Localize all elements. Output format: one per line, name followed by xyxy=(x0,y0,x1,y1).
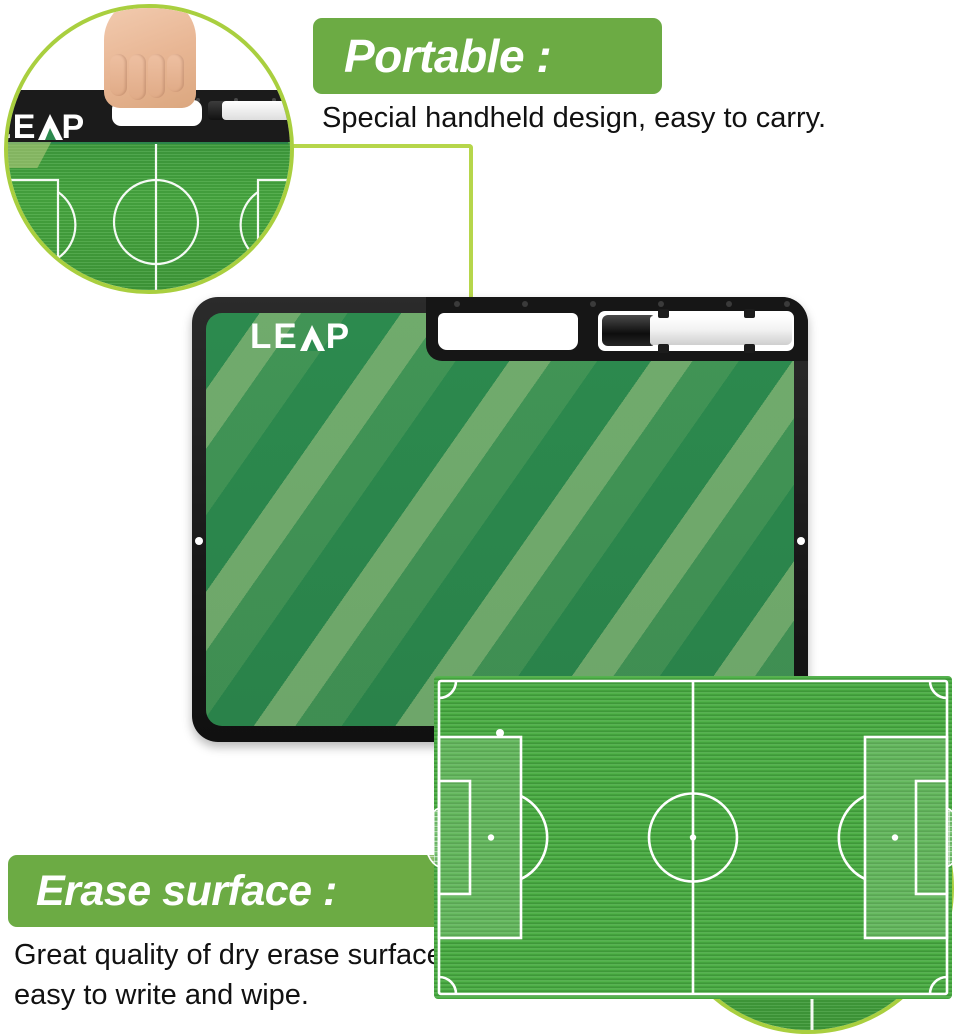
brand-logo-prefix: LE xyxy=(250,317,299,356)
marker-cap xyxy=(602,315,654,346)
feature-badge-erase-surface: Erase surface : xyxy=(8,855,472,927)
brand-logo-suffix: P xyxy=(326,317,351,356)
marker-clip-top-left xyxy=(658,309,669,318)
closeup-logo-prefix: LE xyxy=(4,108,37,146)
infographic-canvas: LEP xyxy=(0,0,956,1024)
closeup-brand-logo: LEP xyxy=(4,108,86,147)
mount-hole-bottom xyxy=(496,729,504,737)
handle-wave-edge xyxy=(438,309,578,321)
closeup-logo-a-glyph xyxy=(38,117,60,140)
closeup-field-surface xyxy=(8,140,290,290)
closeup-hand xyxy=(104,4,196,108)
center-spot xyxy=(690,834,696,840)
soccer-field-diagram xyxy=(434,676,952,999)
brand-logo: LEP xyxy=(250,319,351,354)
mount-hole-left xyxy=(195,537,203,545)
marker-clip-bottom-left xyxy=(658,344,669,353)
panel-diagonal-stripes xyxy=(206,313,794,726)
magnifier-handle-closeup: LEP xyxy=(4,4,294,294)
mount-hole-right xyxy=(797,537,805,545)
board-top-bar xyxy=(426,297,808,361)
coaching-board: LEP xyxy=(192,297,808,742)
dry-erase-marker[interactable] xyxy=(650,316,792,345)
closeup-marker-body xyxy=(222,101,294,120)
closeup-logo-suffix: P xyxy=(61,108,86,146)
feature-badge-portable: Portable : xyxy=(313,18,662,94)
marker-clip-bottom-right xyxy=(744,344,755,353)
marker-clip-top-right xyxy=(744,309,755,318)
brand-logo-a-glyph xyxy=(300,325,325,351)
board-green-panel xyxy=(206,313,794,726)
feature-caption-portable: Special handheld design, easy to carry. xyxy=(322,98,826,138)
